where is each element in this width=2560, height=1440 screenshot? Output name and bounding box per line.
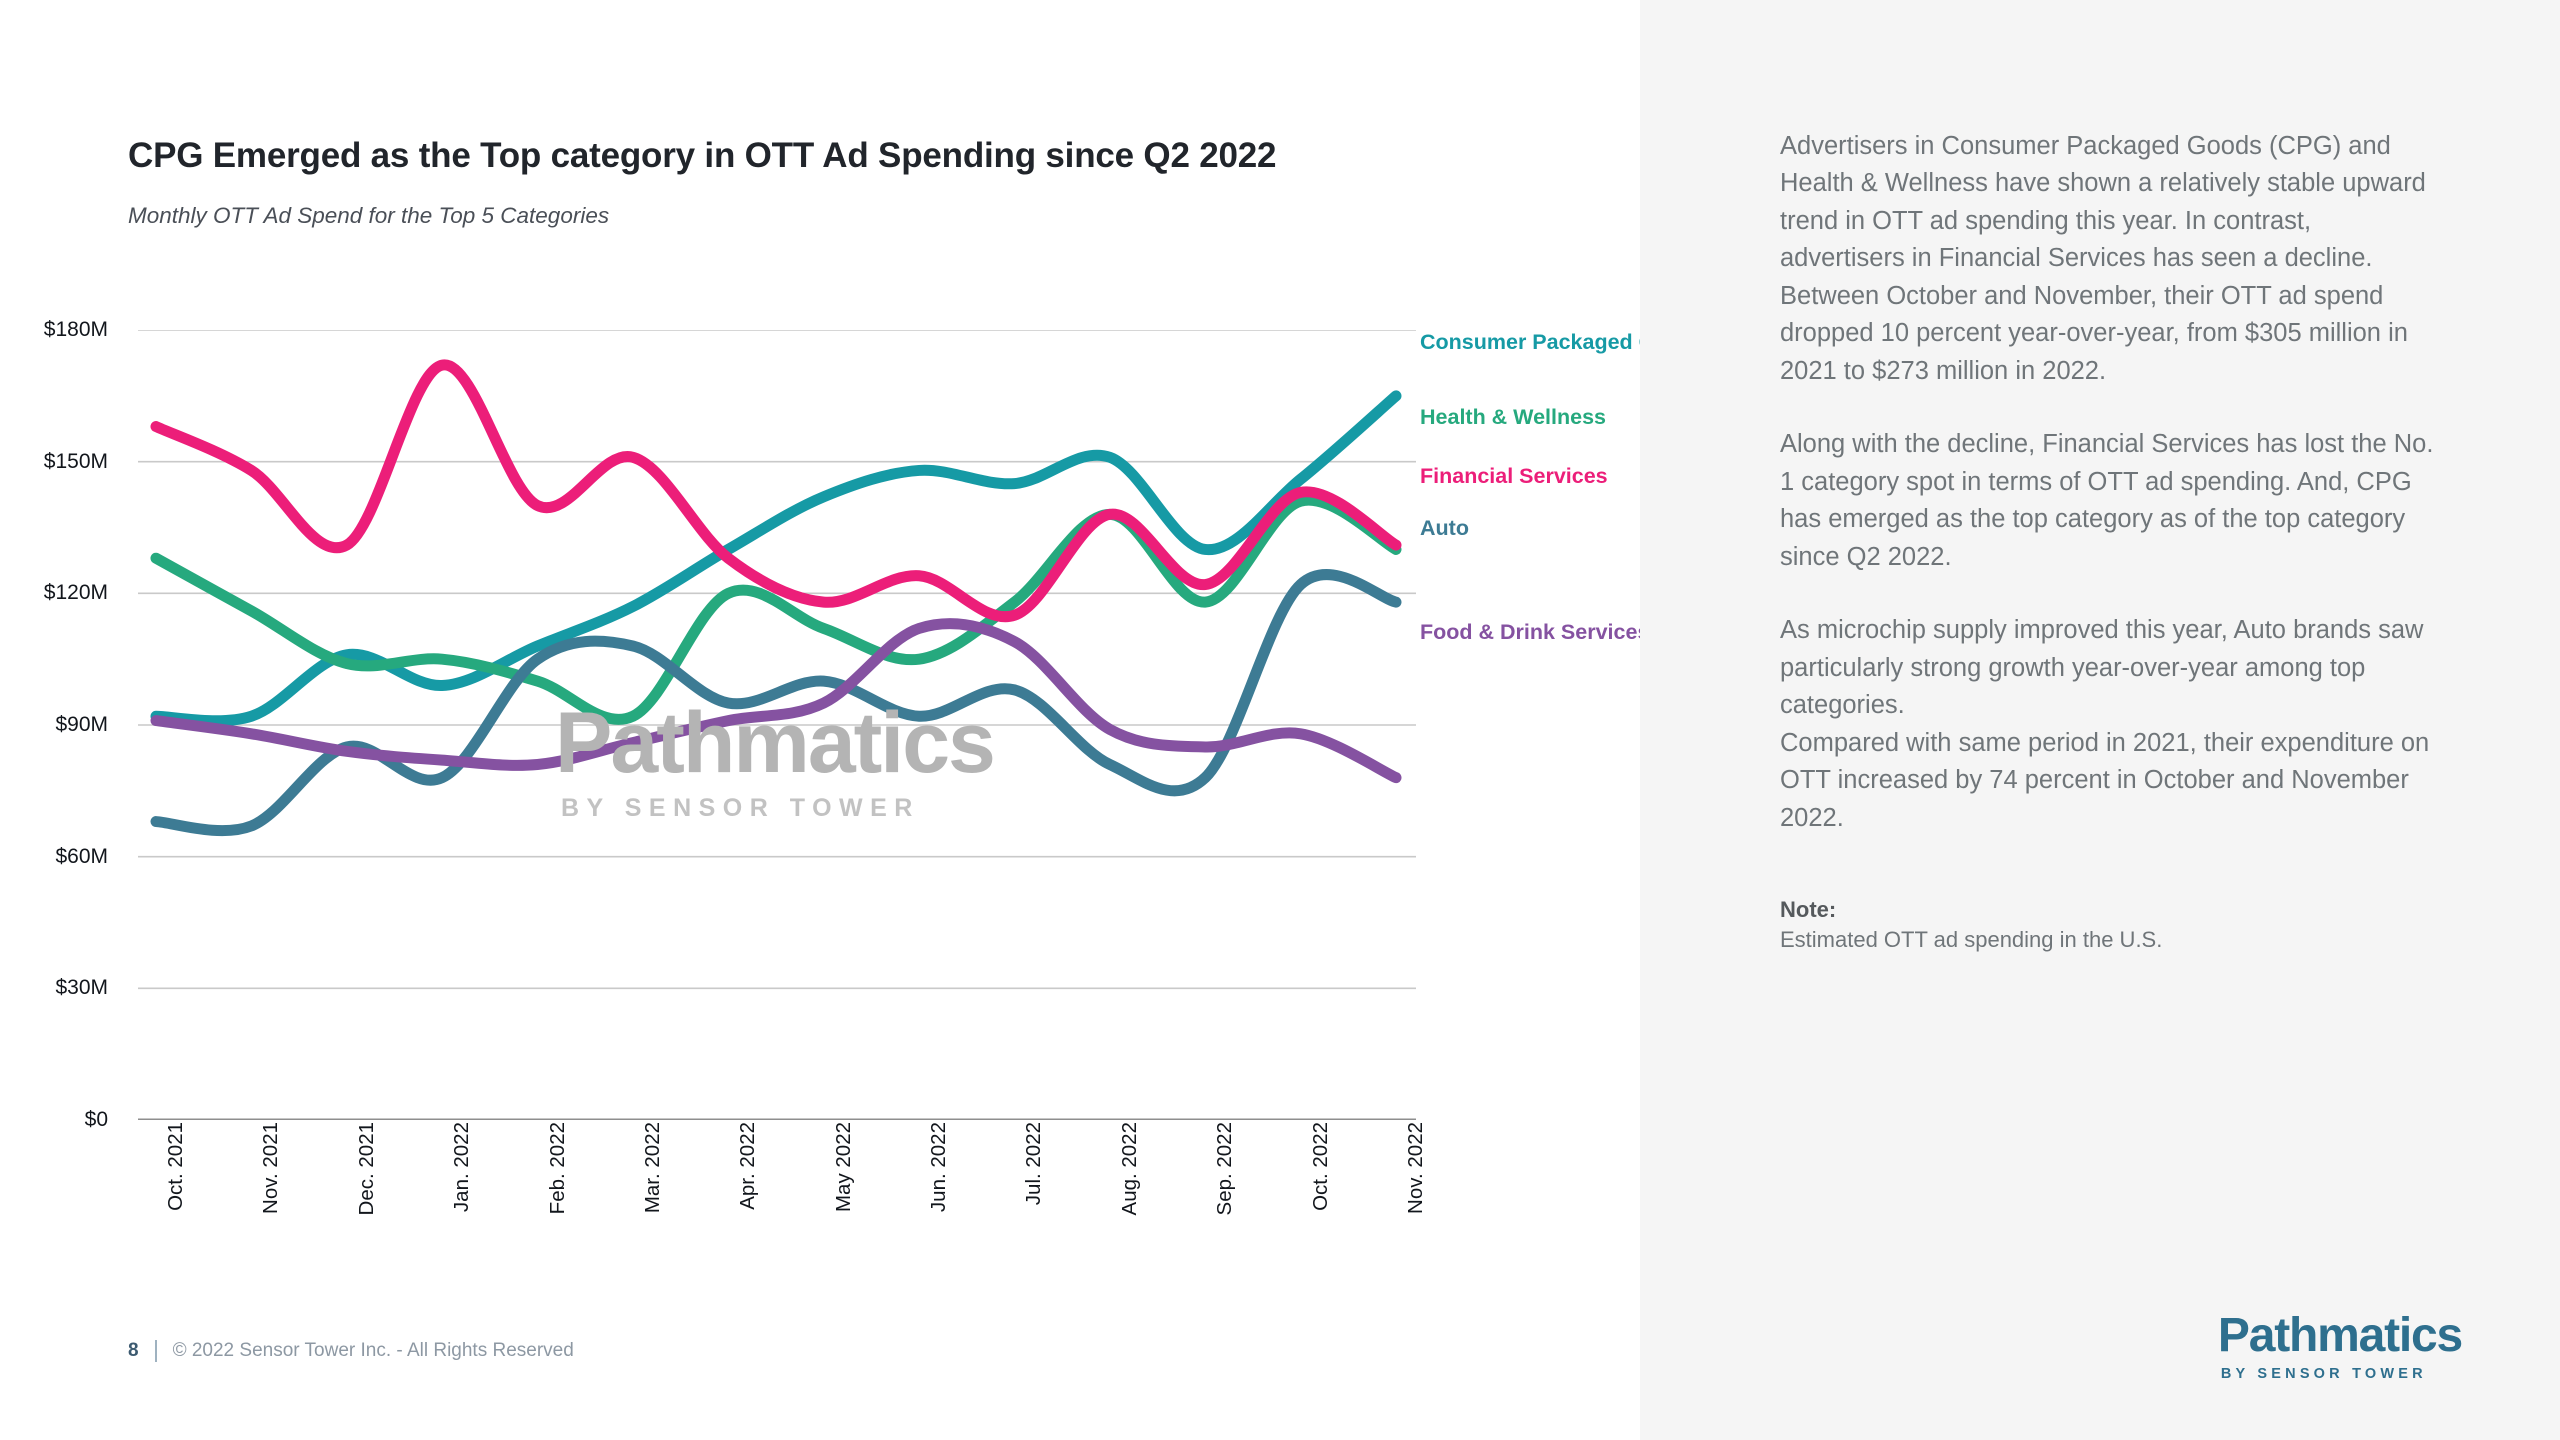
note-block: Note: Estimated OTT ad spending in the U… <box>1780 897 2440 953</box>
series-lines <box>156 365 1396 831</box>
series-label: Health & Wellness <box>1420 405 1606 430</box>
x-tick-label: Oct. 2022 <box>1309 1122 1333 1211</box>
x-tick-label: Jun. 2022 <box>927 1122 951 1212</box>
x-tick-label: Nov. 2021 <box>259 1122 283 1214</box>
logo-wordmark: Pathmatics <box>2218 1312 2462 1360</box>
x-tick-label: Feb. 2022 <box>546 1122 570 1214</box>
series-label: Financial Services <box>1420 464 1608 489</box>
note-title: Note: <box>1780 897 2440 923</box>
x-tick-label: Jul. 2022 <box>1022 1122 1046 1205</box>
series-line <box>156 500 1396 719</box>
chart-svg <box>128 330 1608 1120</box>
chart-panel: CPG Emerged as the Top category in OTT A… <box>0 0 1640 1440</box>
copyright-text: © 2022 Sensor Tower Inc. - All Rights Re… <box>173 1340 574 1362</box>
y-tick-label: $120M <box>44 581 108 605</box>
y-axis: $0$30M$60M$90M$120M$150M$180M <box>0 330 108 1120</box>
footer-divider <box>155 1340 157 1362</box>
y-tick-label: $60M <box>55 845 108 869</box>
commentary-paragraph: Advertisers in Consumer Packaged Goods (… <box>1780 128 2440 390</box>
footer: 8 © 2022 Sensor Tower Inc. - All Rights … <box>128 1340 574 1362</box>
x-tick-label: Aug. 2022 <box>1118 1122 1142 1215</box>
commentary-body: Advertisers in Consumer Packaged Goods (… <box>1780 128 2440 953</box>
y-tick-label: $0 <box>85 1108 108 1132</box>
x-tick-label: Mar. 2022 <box>641 1122 665 1213</box>
logo-tagline: BY SENSOR TOWER <box>2221 1366 2462 1382</box>
series-line <box>156 365 1396 617</box>
y-tick-label: $180M <box>44 318 108 342</box>
series-line <box>156 624 1396 778</box>
x-tick-label: May 2022 <box>832 1122 856 1212</box>
x-tick-label: Dec. 2021 <box>355 1122 379 1215</box>
series-line <box>156 575 1396 831</box>
commentary-paragraph: Along with the decline, Financial Servic… <box>1780 426 2440 576</box>
y-tick-label: $150M <box>44 450 108 474</box>
x-axis: Oct. 2021Nov. 2021Dec. 2021Jan. 2022Feb.… <box>128 1122 1608 1302</box>
y-tick-label: $90M <box>55 713 108 737</box>
series-line <box>156 396 1396 721</box>
slide-root: CPG Emerged as the Top category in OTT A… <box>0 0 2560 1440</box>
x-tick-label: Apr. 2022 <box>736 1122 760 1210</box>
line-chart-plot <box>128 330 1608 1120</box>
page-title: CPG Emerged as the Top category in OTT A… <box>128 136 1276 176</box>
x-tick-label: Nov. 2022 <box>1404 1122 1428 1214</box>
pathmatics-logo: Pathmatics BY SENSOR TOWER <box>2218 1312 2462 1382</box>
y-tick-label: $30M <box>55 976 108 1000</box>
commentary-paragraph: As microchip supply improved this year, … <box>1780 612 2440 837</box>
chart-subtitle: Monthly OTT Ad Spend for the Top 5 Categ… <box>128 203 609 229</box>
x-tick-label: Sep. 2022 <box>1213 1122 1237 1215</box>
series-label: Food & Drink Services <box>1420 620 1649 645</box>
series-label: Auto <box>1420 516 1469 541</box>
gridlines <box>138 330 1416 1120</box>
commentary-paragraphs: Advertisers in Consumer Packaged Goods (… <box>1780 128 2440 837</box>
note-text: Estimated OTT ad spending in the U.S. <box>1780 927 2440 953</box>
x-tick-label: Jan. 2022 <box>450 1122 474 1212</box>
commentary-panel: Advertisers in Consumer Packaged Goods (… <box>1640 0 2560 1440</box>
x-tick-label: Oct. 2021 <box>164 1122 188 1211</box>
page-number: 8 <box>128 1340 139 1362</box>
